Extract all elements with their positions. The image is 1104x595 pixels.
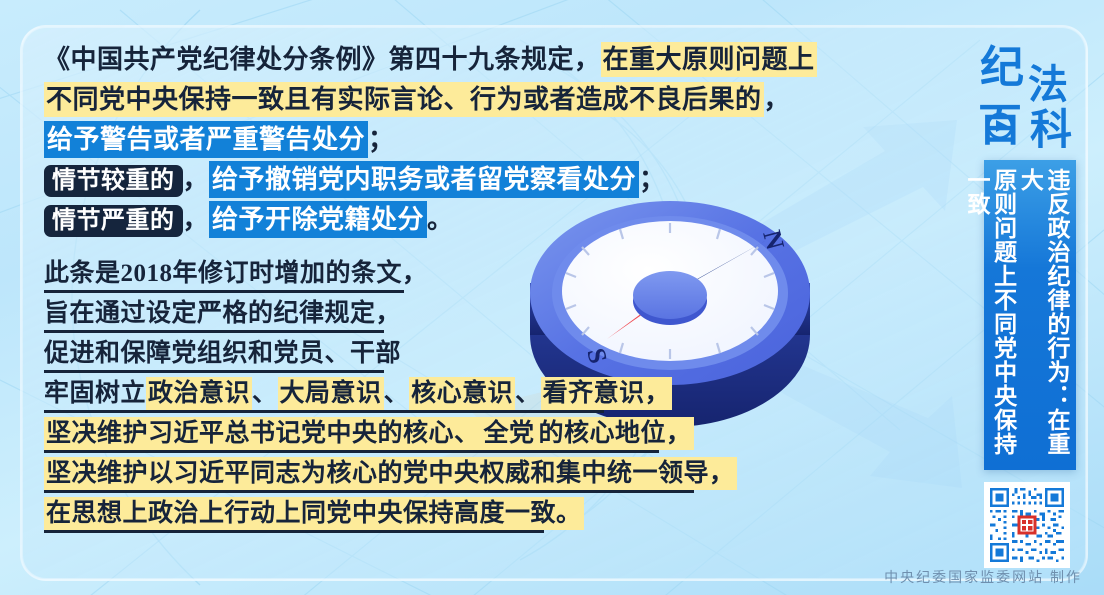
text-segment: 。 xyxy=(427,205,454,234)
text-tag-navy: 情节严重的 xyxy=(44,205,183,237)
poster-canvas: N S 《中国共产党纪律处分条例》第四十九条规定，在重大原则问题上 不同党中央保… xyxy=(0,0,1104,595)
text-segment: ， xyxy=(764,85,791,114)
logo-char-ji: 纪 xyxy=(980,43,1024,92)
text-segment-highlight-blue: 给予警告或者严重警告处分 xyxy=(44,121,368,158)
underline-rule xyxy=(44,290,404,293)
text-segment: 、 xyxy=(252,380,278,407)
underline-rule xyxy=(44,490,694,493)
underline-rule xyxy=(44,450,659,453)
text-line: 不同党中央保持一致且有实际言论、行为或者造成不良后果的， xyxy=(44,80,764,120)
text-line: 给予警告或者严重警告处分； xyxy=(44,120,764,160)
qr-code[interactable] xyxy=(984,482,1070,568)
text-segment: ； xyxy=(368,125,395,154)
text-segment: 、 xyxy=(515,380,541,407)
article-text-block: 《中国共产党纪律处分条例》第四十九条规定，在重大原则问题上 不同党中央保持一致且… xyxy=(44,40,764,534)
banner-line-2: 原则问题上不同党中央保持一致 xyxy=(964,168,1017,456)
text-segment-highlight-yellow: 政治意识 xyxy=(146,377,252,410)
text-line: 情节较重的，给予撤销党内职务或者留党察看处分； xyxy=(44,160,764,200)
text-line: 促进和保障党组织和党员、干部 xyxy=(44,334,764,374)
banner-line-1: 违反政治纪律的行为：在重大 xyxy=(1017,168,1070,456)
text-segment-highlight-yellow: 看齐意识， xyxy=(541,377,673,410)
text-line: 坚决维护以习近平同志为核心的党中央权威和集中统一领导， xyxy=(44,454,764,494)
text-line: 此条是2018年修订时增加的条文， xyxy=(44,254,764,294)
text-segment-highlight-yellow: 大局意识 xyxy=(278,377,384,410)
footer-credit: 中央纪委国家监委网站 制作 xyxy=(884,567,1082,587)
underline-rule xyxy=(44,330,384,333)
text-tag-navy: 情节较重的 xyxy=(44,165,183,197)
paragraph-spacer xyxy=(44,240,764,254)
text-line: 旨在通过设定严格的纪律规定， xyxy=(44,294,764,334)
text-line: 坚决维护习近平总书记党中央的核心、全党的核心地位， xyxy=(44,414,764,454)
text-line: 在思想上政治上行动上同党中央保持高度一致。 xyxy=(44,494,764,534)
underline-rule xyxy=(44,530,544,533)
text-segment: ； xyxy=(639,165,666,194)
logo-char-fa: 法 xyxy=(1028,63,1068,107)
underline-rule xyxy=(44,410,604,413)
text-segment-highlight-yellow: 在思想上政治上行动上同党中央保持高度一致。 xyxy=(44,497,584,530)
text-segment: 、 xyxy=(384,380,410,407)
text-segment-highlight-yellow: 不同党中央保持一致且有实际言论、行为或者造成不良后果的 xyxy=(44,82,764,117)
text-segment: 此条是2018年修订时增加的条文， xyxy=(44,260,428,287)
text-segment: ， xyxy=(183,205,210,234)
logo-char-ke: 科 xyxy=(1030,106,1072,148)
text-segment: 牢固树立 xyxy=(44,380,146,407)
vertical-title-banner: 违反政治纪律的行为：在重大原则问题上不同党中央保持一致 xyxy=(984,160,1076,470)
text-segment-highlight-yellow: 全党 xyxy=(482,417,537,450)
text-segment-highlight-yellow: 在重大原则问题上 xyxy=(601,42,817,77)
text-segment: 促进和保障党组织和党员、干部 xyxy=(44,340,401,367)
text-segment-highlight-blue: 给予开除党籍处分 xyxy=(209,201,427,238)
text-segment-highlight-blue: 给予撤销党内职务或者留党察看处分 xyxy=(209,161,639,198)
text-segment-highlight-yellow: 核心意识 xyxy=(409,377,515,410)
vertical-title-text: 违反政治纪律的行为：在重大原则问题上不同党中央保持一致 xyxy=(963,168,1070,462)
text-line: 《中国共产党纪律处分条例》第四十九条规定，在重大原则问题上 xyxy=(44,40,764,80)
text-segment: ， xyxy=(183,165,210,194)
text-segment: 《中国共产党纪律处分条例》第四十九条规定， xyxy=(44,45,601,74)
text-line: 牢固树立政治意识、大局意识、核心意识、看齐意识， xyxy=(44,374,764,414)
underline-rule xyxy=(44,370,384,373)
text-line: 情节严重的，给予开除党籍处分。 xyxy=(44,200,764,240)
text-segment-highlight-yellow: 的核心地位， xyxy=(537,417,694,450)
text-segment: 旨在通过设定严格的纪律规定， xyxy=(44,300,401,327)
text-segment-highlight-yellow: 坚决维护习近平总书记党中央的核心、 xyxy=(44,417,482,450)
brand-logo[interactable]: 纪 法 百 科 xyxy=(978,36,1082,148)
text-segment-highlight-yellow: 坚决维护以习近平同志为核心的党中央权威和集中统一领导， xyxy=(44,457,737,490)
